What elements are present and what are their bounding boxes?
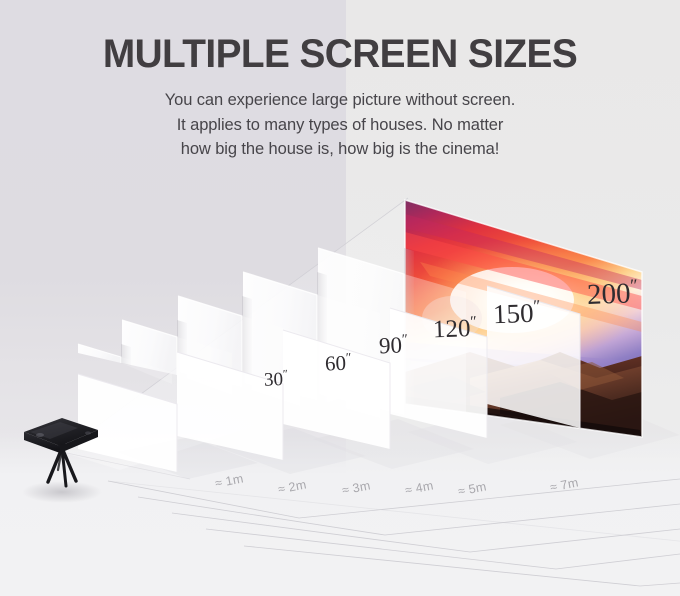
header-block: MULTIPLE SCREEN SIZES You can experience… [0,0,680,162]
subtitle-line-3: how big the house is, how big is the cin… [0,137,680,161]
poster-canvas: MULTIPLE SCREEN SIZES You can experience… [0,0,680,596]
page-subtitle: You can experience large picture without… [0,75,680,161]
subtitle-line-2: It applies to many types of houses. No m… [0,113,680,137]
page-title: MULTIPLE SCREEN SIZES [10,0,670,75]
floor-distance-grid [108,479,680,586]
subtitle-line-1: You can experience large picture without… [0,88,680,112]
